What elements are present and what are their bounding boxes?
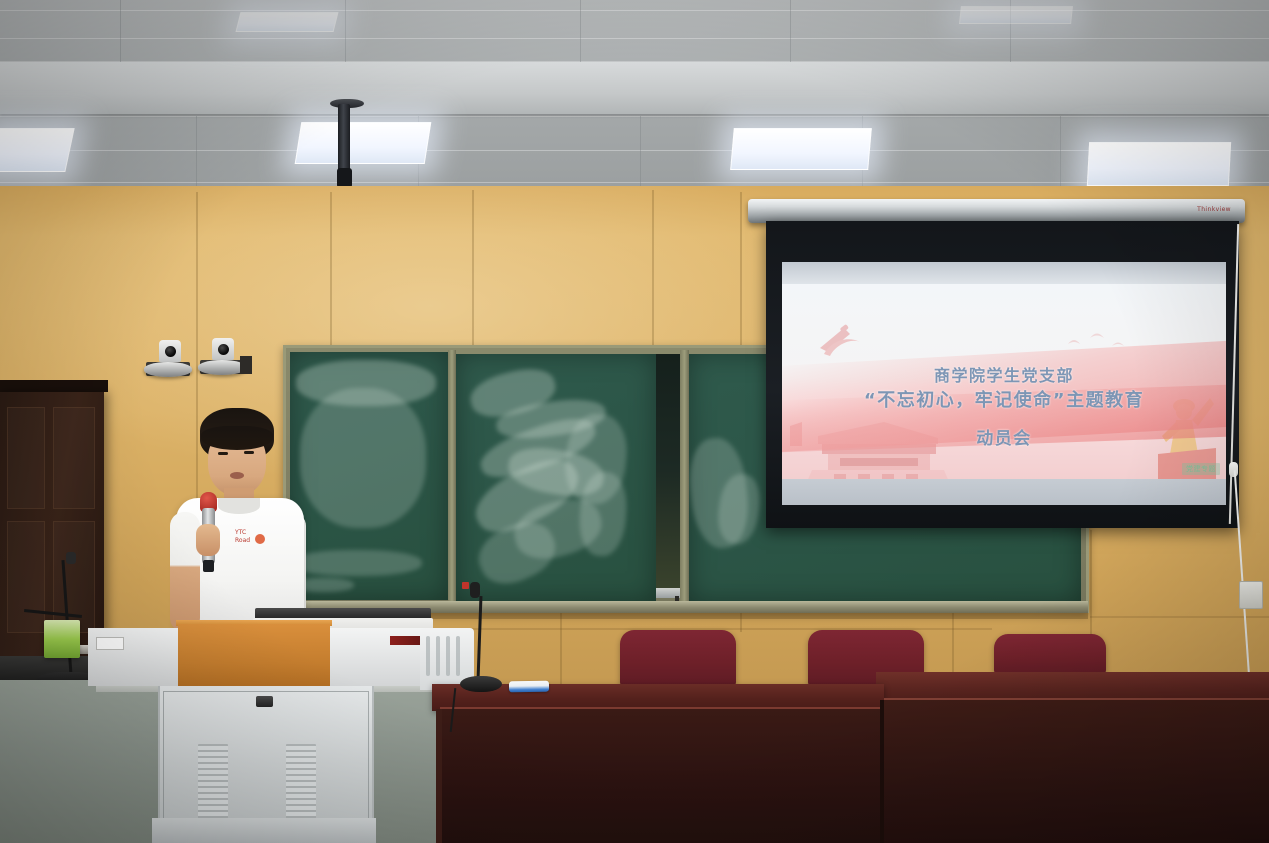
slide-title-line-1: 商学院学生党支部: [782, 362, 1226, 386]
ceiling-grid-line: [790, 0, 791, 62]
chair[interactable]: [994, 634, 1106, 676]
door-panel: [8, 408, 44, 508]
door-panel: [8, 522, 44, 632]
blackboard-track-gap: [656, 354, 680, 588]
ceiling-light-panel: [1087, 142, 1231, 186]
speaker-eye: [244, 451, 254, 454]
door-panel: [54, 408, 94, 508]
projector-mount-head: [337, 168, 352, 188]
wall-panel-seam: [652, 190, 654, 348]
slide-watermark: 党建专题: [1182, 463, 1220, 475]
podium-door-outline: [164, 692, 368, 838]
camera-lens-icon: [218, 344, 229, 355]
ptz-camera: [144, 362, 192, 377]
ceiling-grid-line: [0, 182, 1269, 183]
handheld-microphone-base: [203, 560, 214, 572]
ceiling-light-panel: [236, 12, 339, 32]
slide-title-line-2: “不忘初心，牢记使命”主题教育: [782, 386, 1226, 412]
ceiling-grid-line: [196, 116, 197, 186]
podium-wood-panel: [178, 624, 330, 690]
projection-screen-case[interactable]: Thinkview: [748, 199, 1245, 223]
ceiling-grid-line: [120, 0, 121, 62]
screen-brand-logo: Thinkview: [1197, 206, 1231, 213]
ceiling-light-panel: [295, 122, 432, 164]
ceiling-light-panel: [0, 128, 75, 172]
wall-panel-seam: [560, 612, 562, 684]
speaker-shirt-collar: [218, 498, 260, 514]
front-desk-panel-right: [884, 700, 1269, 843]
wall-panel-seam: [1090, 616, 1269, 618]
chalkboard-red-marker: [462, 582, 469, 589]
podium-lock-icon[interactable]: [256, 696, 273, 707]
ceiling-grid-line: [345, 0, 346, 62]
ceiling-grid-line: [0, 150, 1269, 151]
camera-lens-icon: [165, 346, 176, 357]
ceiling-grid-line: [580, 0, 581, 62]
ceiling-grid-line: [0, 116, 1269, 117]
svg-text:Road: Road: [235, 537, 250, 544]
ceiling-light-panel: [730, 128, 872, 170]
ceiling-soffit-beam: [0, 62, 1269, 114]
speaker-eye: [218, 452, 228, 455]
front-desk-panel-left: [440, 709, 884, 843]
ceiling-light-panel: [959, 6, 1073, 24]
shirt-logo-icon: YTC Road: [232, 526, 268, 546]
green-box-item: [44, 620, 80, 658]
speaker-mouth: [230, 472, 244, 479]
podium-plinth: [152, 818, 376, 843]
slide-body: 商学院学生党支部 “不忘初心，牢记使命”主题教育 动员会: [782, 284, 1226, 479]
blackboard-panel-left: [290, 352, 448, 600]
door-jamb: [0, 380, 108, 392]
camera-wall-plate: [240, 356, 252, 374]
speaker-hair-fringe: [201, 426, 273, 450]
ceiling-grid-line: [0, 10, 1269, 11]
cpc-hammer-sickle-emblem-icon: [814, 322, 866, 362]
slide-top-band: [782, 262, 1226, 284]
ceiling-grid-line: [0, 38, 1269, 39]
mobile-phone[interactable]: [509, 681, 549, 693]
projected-slide: 商学院学生党支部 “不忘初心，牢记使命”主题教育 动员会 党建专题: [782, 262, 1226, 505]
slide-bottom-band: [782, 479, 1226, 505]
projector-mount-pole: [338, 104, 350, 176]
slide-title-line-3: 动员会: [782, 424, 1226, 449]
chair[interactable]: [620, 630, 736, 688]
front-desk-leg: [436, 709, 442, 843]
ptz-camera: [198, 360, 246, 375]
wall-panel-seam: [330, 192, 332, 362]
blackboard-divider: [680, 350, 689, 602]
wall-panel-seam: [472, 190, 474, 365]
front-desk-seam: [880, 700, 884, 843]
speaker-hand: [196, 524, 220, 556]
wall-socket-plate[interactable]: [1239, 581, 1263, 609]
classroom-photo-scene: Thinkview: [0, 0, 1269, 843]
gooseneck-mic-base: [460, 676, 502, 692]
ceiling-grid-line: [640, 116, 641, 186]
ceiling-grid-line: [1060, 116, 1061, 186]
podium-label-plate: [96, 637, 124, 650]
blackboard-divider: [448, 350, 456, 602]
blackboard-panel-center: [456, 354, 656, 602]
svg-text:YTC: YTC: [234, 529, 246, 536]
mic-stand-head: [66, 552, 76, 564]
